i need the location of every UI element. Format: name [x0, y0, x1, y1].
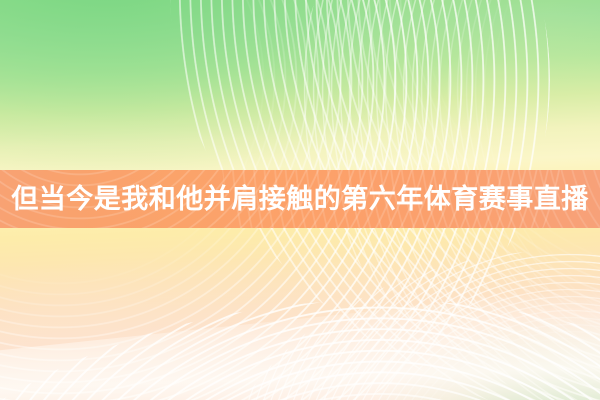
banner-canvas: 但当今是我和他并肩接触的第六年体育赛事直播: [0, 0, 600, 400]
background-corner-green-glow: [240, 210, 600, 400]
title-band: 但当今是我和他并肩接触的第六年体育赛事直播: [0, 170, 600, 228]
banner-title: 但当今是我和他并肩接触的第六年体育赛事直播: [11, 186, 589, 213]
